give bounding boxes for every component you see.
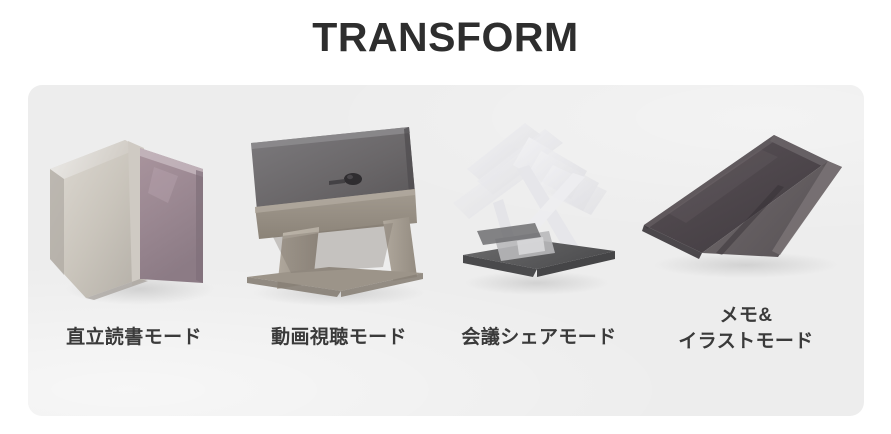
product-image-meeting-share [433,107,645,312]
mode-caption-line-2: イラストモード [628,329,864,355]
product-image-upright-reading [28,107,240,312]
mode-item-memo-illustration: メモ& イラストモード [628,85,864,416]
mode-caption-memo-illustration: メモ& イラストモード [628,303,864,355]
product-image-video-watching [233,107,445,312]
page-title: TRANSFORM [0,14,891,61]
promo-banner: TRANSFORM [0,0,891,434]
modes-list: 直立読書モード [28,85,864,416]
product-image-memo-illustration [628,107,864,312]
modes-panel: 直立読書モード [28,85,864,416]
mode-item-upright-reading: 直立読書モード [28,85,240,416]
mode-caption-meeting-share: 会議シェアモード [433,325,645,351]
mode-caption-upright-reading: 直立読書モード [28,325,240,351]
mode-item-video-watching: 動画視聴モード [233,85,445,416]
mode-caption-line-1: メモ& [628,303,864,329]
mode-caption-video-watching: 動画視聴モード [233,325,445,351]
mode-item-meeting-share: 会議シェアモード [433,85,645,416]
